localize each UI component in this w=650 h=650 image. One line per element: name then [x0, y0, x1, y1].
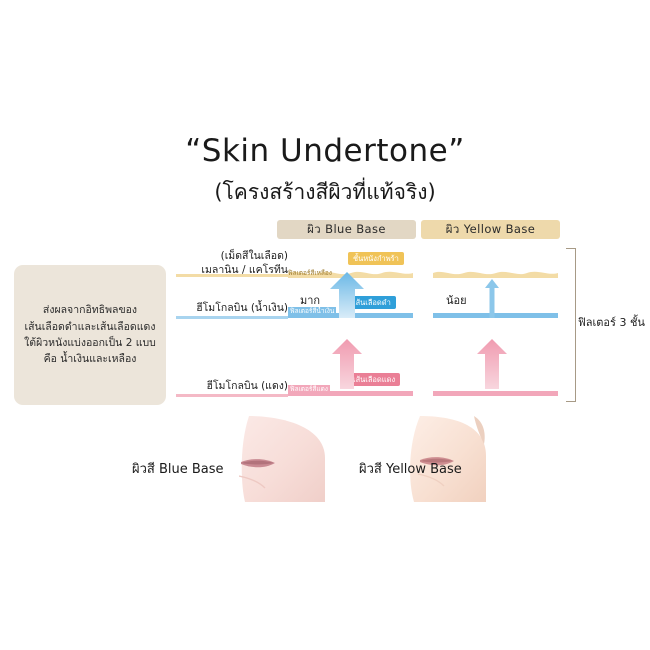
- column-header-blue-base: ผิว Blue Base: [277, 220, 416, 239]
- layer-red-line: [433, 391, 558, 396]
- arrow-blue-strong-icon: [330, 272, 364, 318]
- caption-yellow-base: ผิวสี Yellow Base: [359, 458, 462, 479]
- three-filter-label: ฟิลเตอร์ 3 ชั้น: [578, 313, 645, 331]
- three-filter-bracket: [566, 248, 576, 402]
- column-header-yellow-base: ผิว Yellow Base: [421, 220, 560, 239]
- tag-filter-red: ฟิลเตอร์สีแดง: [288, 385, 330, 394]
- explanation-box: ส่งผลจากอิทธิพลของ เส้นเลือดดำและเส้นเลื…: [14, 265, 166, 405]
- amount-label-few: น้อย: [446, 291, 467, 309]
- photo-blue-base-skin: [239, 416, 325, 502]
- amount-label-much: มาก: [300, 291, 320, 309]
- row-rule-blue: [176, 316, 288, 319]
- arrow-blue-weak-icon: [485, 279, 499, 318]
- panel-yellow-base: น้อย: [433, 243, 558, 401]
- badge-epidermis: ชั้นหนังกำพร้า: [348, 252, 404, 265]
- row-label-hemoglobin-red: ฮีโมโกลบิน (แดง): [176, 379, 288, 393]
- explanation-line: เส้นเลือดดำและเส้นเลือดแดง: [25, 319, 156, 335]
- infographic-canvas: “Skin Undertone” (โครงสร้างสีผิวที่แท้จร…: [0, 0, 650, 650]
- layer-yellow-wave: [433, 268, 558, 278]
- explanation-line: ส่งผลจากอิทธิพลของ: [43, 302, 137, 318]
- row-rule-yellow: [176, 274, 288, 277]
- explanation-line: คือ น้ำเงินและเหลือง: [44, 351, 137, 367]
- page-subtitle: (โครงสร้างสีผิวที่แท้จริง): [0, 176, 650, 209]
- row-label-melanin-sub: (เม็ดสีในเลือด): [176, 249, 288, 263]
- tag-filter-yellow: ฟิลเตอร์สีเหลือง: [288, 270, 332, 277]
- panel-blue-base: ฟิลเตอร์สีเหลือง ฟิลเตอร์สีน้ำเงิน ฟิลเต…: [288, 243, 413, 401]
- caption-blue-base: ผิวสี Blue Base: [132, 458, 224, 479]
- arrow-red-strong-icon: [477, 339, 507, 389]
- skin-layer-diagram: ฟิลเตอร์สีเหลือง ฟิลเตอร์สีน้ำเงิน ฟิลเต…: [288, 243, 558, 401]
- row-label-hemoglobin-blue: ฮีโมโกลบิน (น้ำเงิน): [176, 301, 288, 315]
- row-rule-red: [176, 394, 288, 397]
- arrow-red-strong-icon: [332, 339, 362, 389]
- explanation-line: ใต้ผิวหนังแบ่งออกเป็น 2 แบบ: [24, 335, 156, 351]
- page-title: “Skin Undertone”: [0, 133, 650, 169]
